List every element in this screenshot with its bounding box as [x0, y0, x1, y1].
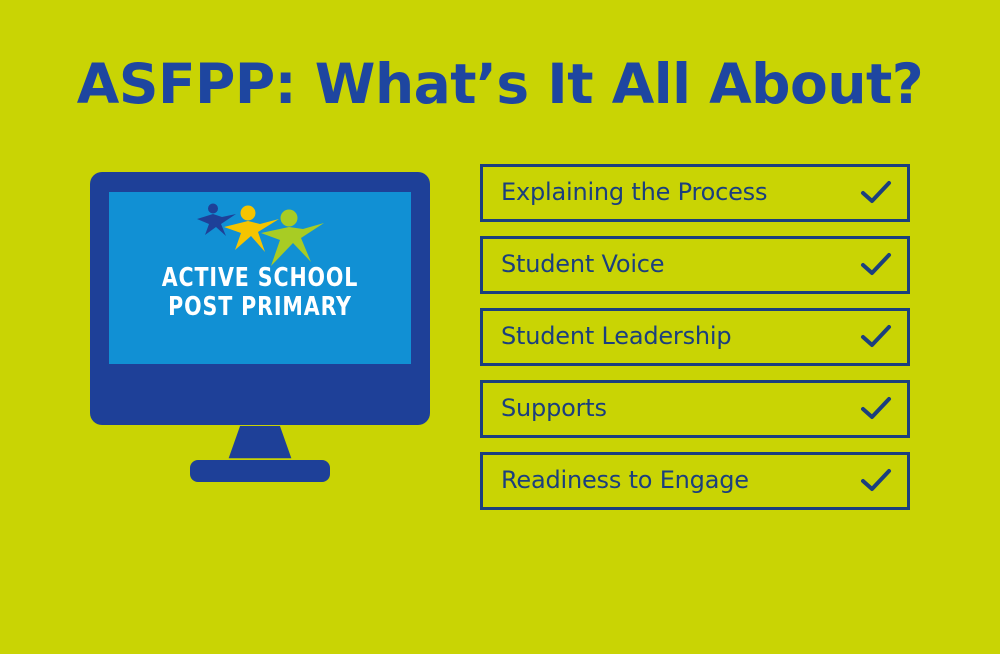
monitor-screen: ACTIVE SCHOOL POST PRIMARY — [109, 192, 411, 364]
monitor-stand-base — [190, 460, 330, 482]
checklist-item-supports[interactable]: Supports — [480, 380, 910, 438]
logo-line-post-primary: POST PRIMARY — [127, 293, 393, 322]
monitor-bezel: ACTIVE SCHOOL POST PRIMARY — [90, 172, 430, 425]
monitor-illustration: ACTIVE SCHOOL POST PRIMARY — [90, 172, 430, 487]
check-icon — [859, 322, 893, 352]
checklist-item-label: Student Leadership — [501, 324, 859, 350]
slide-canvas: ASFPP: What’s It All About? — [0, 0, 1000, 654]
checklist-item-label: Readiness to Engage — [501, 468, 859, 494]
checklist-item-student-leadership[interactable]: Student Leadership — [480, 308, 910, 366]
check-icon — [859, 178, 893, 208]
logo-figures-icon — [195, 200, 325, 268]
checklist-item-student-voice[interactable]: Student Voice — [480, 236, 910, 294]
checklist-item-readiness-to-engage[interactable]: Readiness to Engage — [480, 452, 910, 510]
checklist-item-explaining-the-process[interactable]: Explaining the Process — [480, 164, 910, 222]
checklist-item-label: Student Voice — [501, 252, 859, 278]
checklist: Explaining the Process Student Voice Stu… — [480, 164, 910, 524]
checklist-item-label: Explaining the Process — [501, 180, 859, 206]
active-school-logo: ACTIVE SCHOOL POST PRIMARY — [109, 192, 411, 364]
figure-blue-icon — [197, 204, 236, 237]
logo-wordmark: ACTIVE SCHOOL POST PRIMARY — [109, 264, 411, 322]
check-icon — [859, 394, 893, 424]
check-icon — [859, 466, 893, 496]
logo-line-active-school: ACTIVE SCHOOL — [127, 264, 393, 293]
figure-yellow-icon — [224, 206, 279, 253]
page-title: ASFPP: What’s It All About? — [0, 52, 1000, 116]
figure-green-icon — [261, 210, 324, 267]
checklist-item-label: Supports — [501, 396, 859, 422]
check-icon — [859, 250, 893, 280]
monitor-stand-neck — [223, 426, 297, 464]
